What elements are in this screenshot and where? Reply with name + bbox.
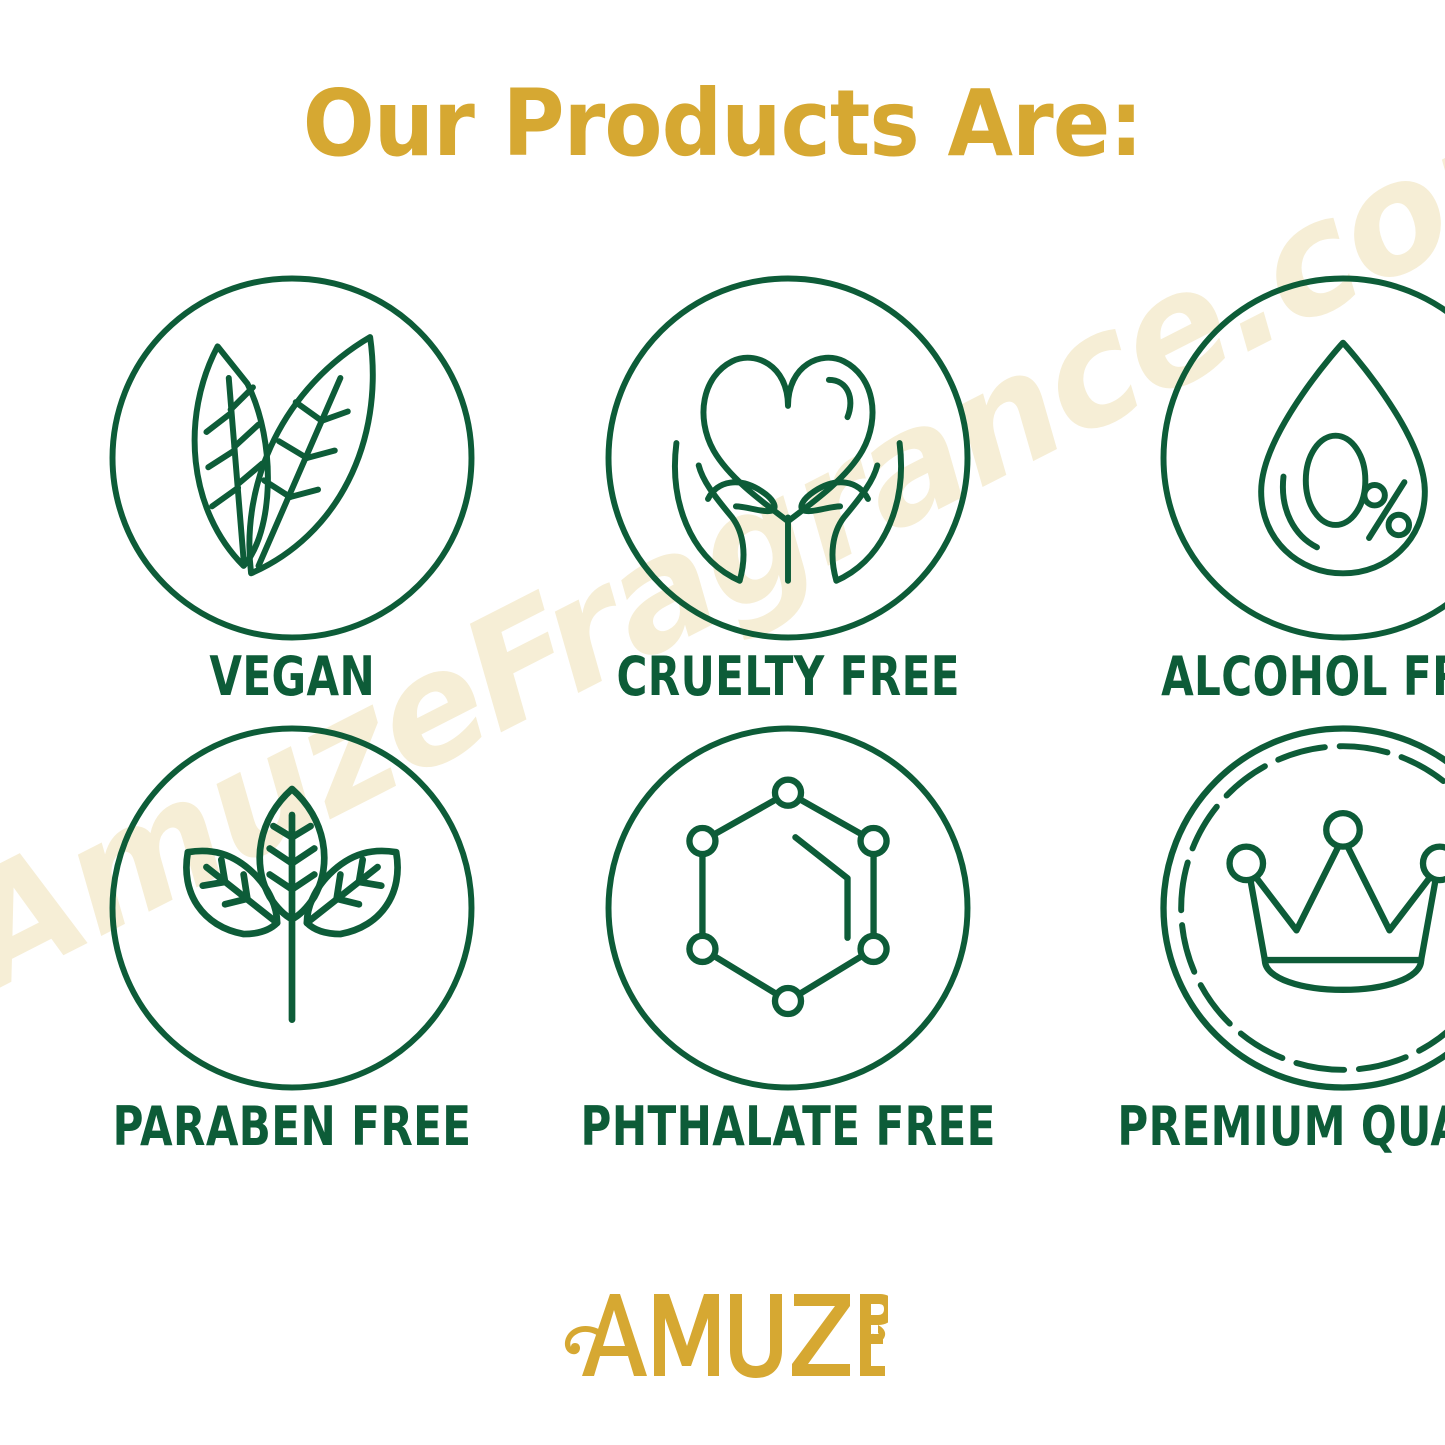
badge-cruelty-free[interactable]: CRUELTY FREE <box>522 272 1054 722</box>
crown-icon <box>1157 722 1445 1094</box>
three-leaf-plant-icon <box>106 722 478 1094</box>
poster-canvas: AmuzeFragrance.com Our Products Are: <box>0 0 1445 1445</box>
amuze-wordmark <box>558 1288 888 1384</box>
badge-label: PHTHALATE FREE <box>581 1100 996 1154</box>
badge-label: PARABEN FREE <box>113 1100 472 1154</box>
badge-premium-quality[interactable]: PREMIUM QUALITY <box>1054 722 1445 1172</box>
badge-phthalate-free[interactable]: PHTHALATE FREE <box>522 722 1054 1172</box>
badge-label: ALCOHOL FREE <box>1161 650 1445 704</box>
hexagon-molecule-icon <box>602 722 974 1094</box>
brand-logo <box>0 1288 1445 1389</box>
water-droplet-zero-percent-icon <box>1157 272 1445 644</box>
two-leaves-icon <box>106 272 478 644</box>
heart-in-hands-icon <box>602 272 974 644</box>
badge-grid: VEGAN <box>62 272 1392 1172</box>
badge-vegan[interactable]: VEGAN <box>62 272 522 722</box>
badge-label: CRUELTY FREE <box>617 650 961 704</box>
badge-label: PREMIUM QUALITY <box>1118 1100 1445 1154</box>
badge-label: VEGAN <box>209 650 375 704</box>
badge-alcohol-free[interactable]: ALCOHOL FREE <box>1054 272 1445 722</box>
badge-paraben-free[interactable]: PARABEN FREE <box>62 722 522 1172</box>
page-title: Our Products Are: <box>58 78 1387 170</box>
